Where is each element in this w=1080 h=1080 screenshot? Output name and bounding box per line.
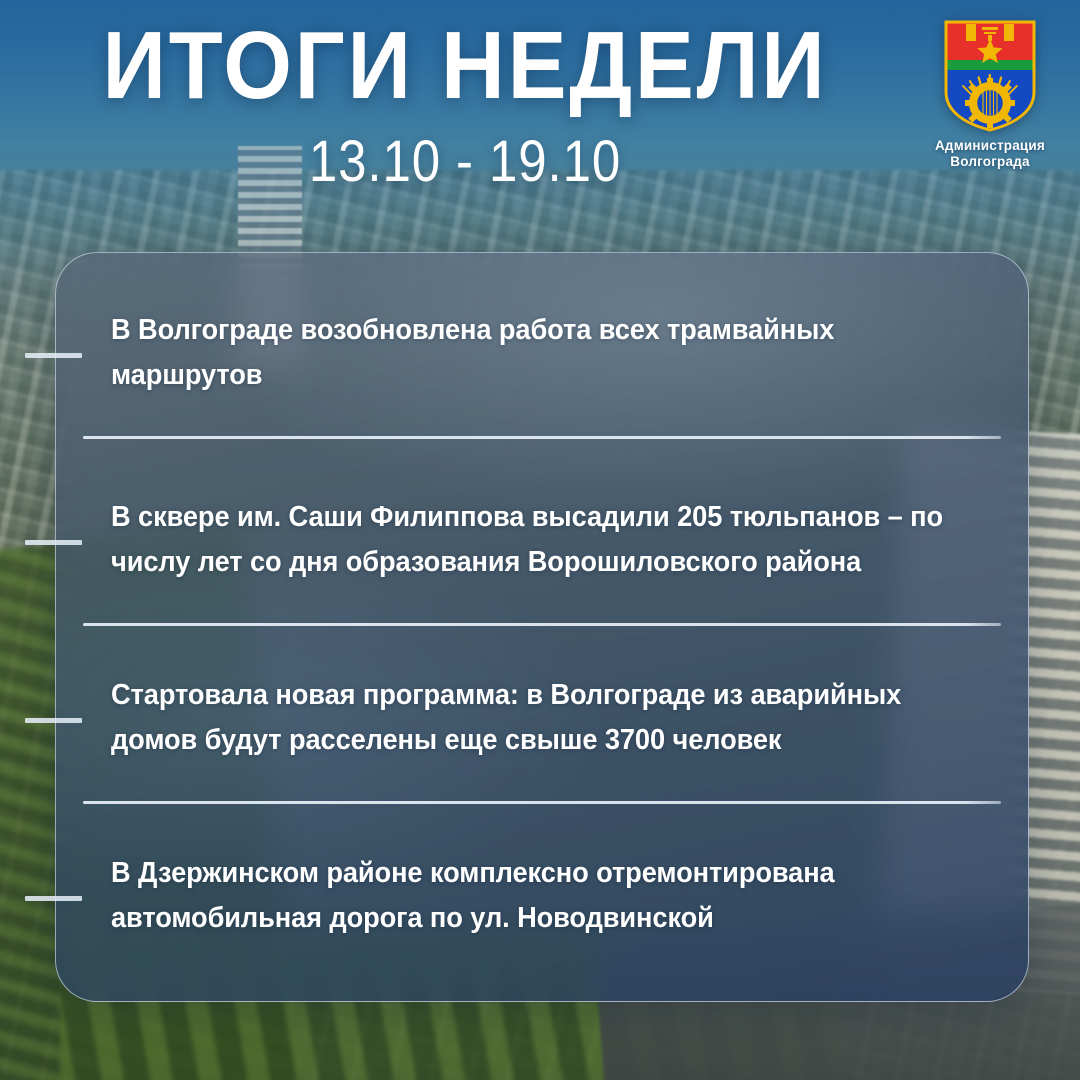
bullet-dash-icon [25, 718, 82, 723]
administration-logo-caption: Администрация Волгограда [928, 138, 1052, 170]
page-title: ИТОГИ НЕДЕЛИ [37, 16, 893, 117]
logo-caption-line-2: Волгограда [928, 154, 1052, 170]
volgograd-coat-of-arms-icon [942, 16, 1038, 134]
logo-caption-line-1: Администрация [928, 138, 1052, 154]
news-item-text: Стартовала новая программа: в Волгограде… [111, 673, 959, 763]
list-item: Стартовала новая программа: в Волгограде… [55, 617, 1027, 804]
date-range-label: 13.10 - 19.10 [56, 128, 874, 195]
news-list: В Волгограде возобновлена работа всех тр… [55, 252, 1027, 1000]
bullet-dash-icon [25, 353, 82, 358]
list-item: В Волгограде возобновлена работа всех тр… [55, 252, 1027, 439]
news-item-text: В Волгограде возобновлена работа всех тр… [111, 308, 959, 398]
bullet-dash-icon [25, 896, 82, 901]
list-item: В Дзержинском районе комплексно отремонт… [55, 795, 1027, 982]
list-item: В сквере им. Саши Филиппова высадили 205… [55, 439, 1027, 626]
administration-logo: Администрация Волгограда [928, 16, 1052, 170]
weekly-results-poster: ИТОГИ НЕДЕЛИ 13.10 - 19.10 [0, 0, 1080, 1080]
news-item-text: В сквере им. Саши Филиппова высадили 205… [111, 495, 959, 585]
bullet-dash-icon [25, 540, 82, 545]
news-item-text: В Дзержинском районе комплексно отремонт… [111, 851, 959, 941]
